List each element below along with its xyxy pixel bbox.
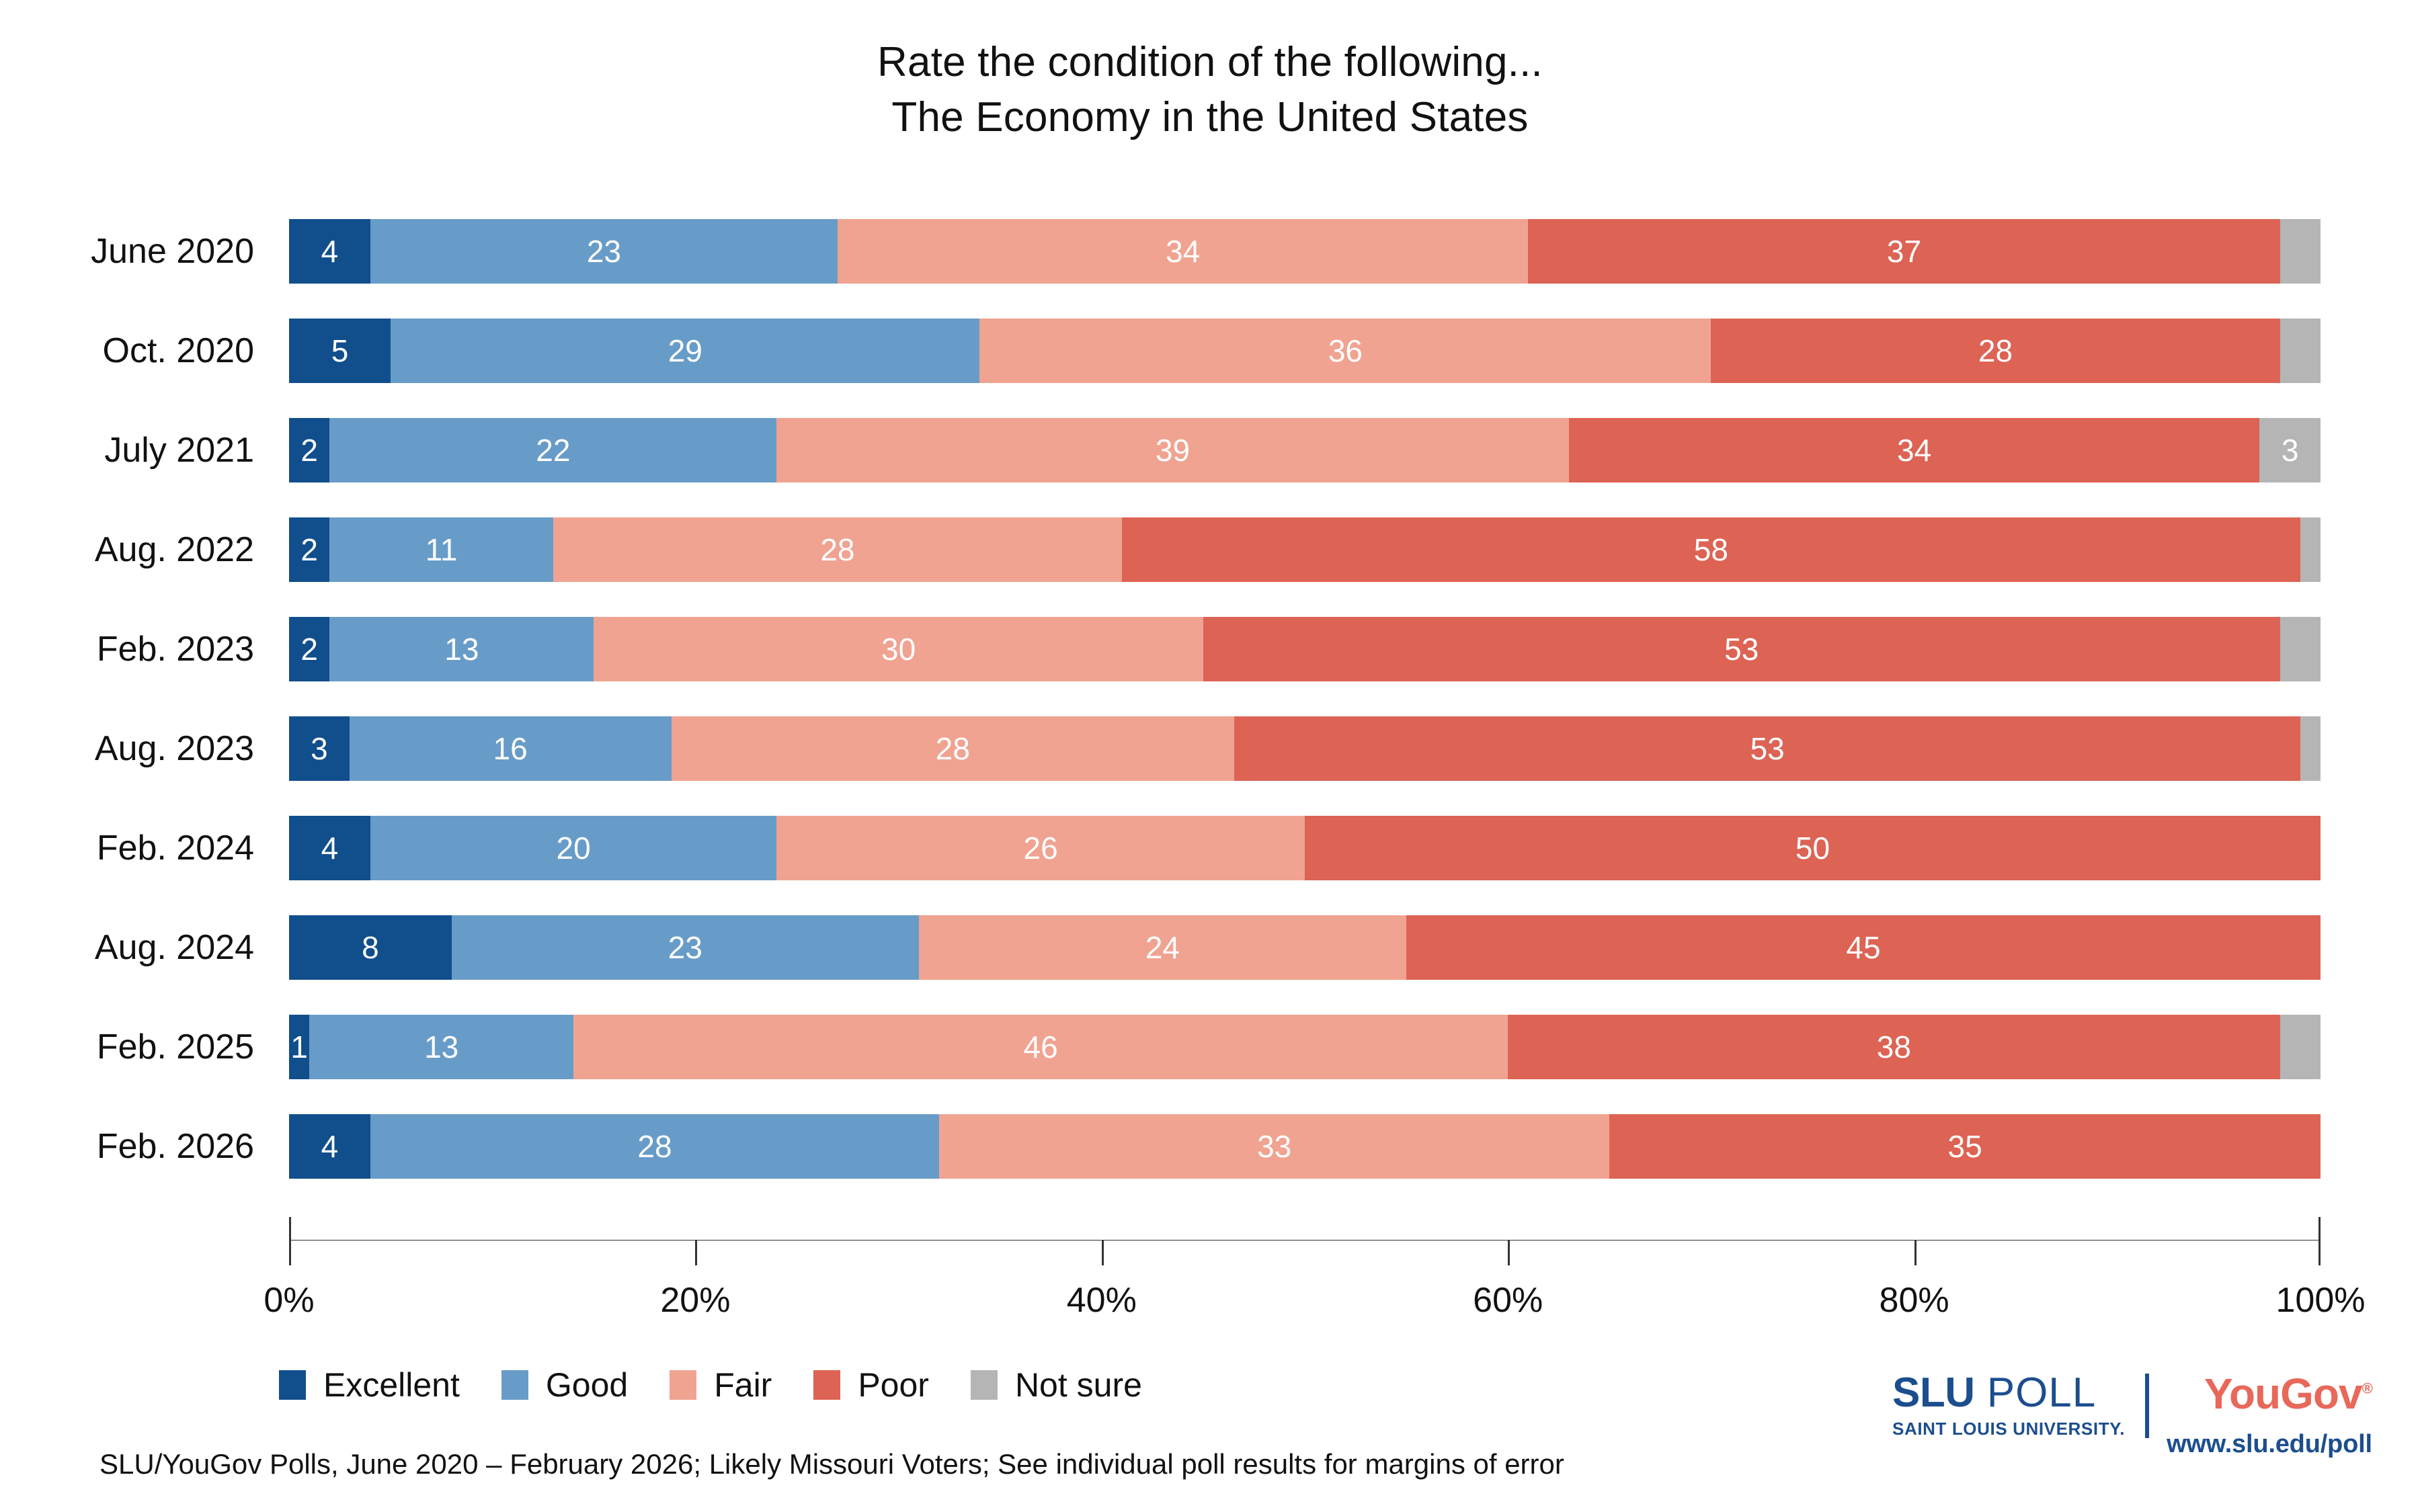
bar-segment-fair: 39 bbox=[776, 418, 1569, 482]
bar-value-label: 53 bbox=[1750, 733, 1785, 764]
yougov-wordmark: YouGov® bbox=[2204, 1372, 2372, 1415]
bar-value-label: 28 bbox=[936, 733, 970, 764]
category-label: Aug. 2024 bbox=[0, 927, 289, 968]
bar-value-label: 33 bbox=[1257, 1131, 1291, 1162]
bar-segment-poor: 53 bbox=[1203, 617, 2280, 681]
bar-segment-poor: 58 bbox=[1122, 517, 2300, 582]
bar-value-label: 37 bbox=[1887, 236, 1921, 267]
x-axis-tick bbox=[1508, 1240, 1510, 1265]
legend-label: Fair bbox=[714, 1366, 772, 1404]
bar-segment-poor: 38 bbox=[1508, 1015, 2280, 1079]
bar-value-label: 4 bbox=[321, 833, 339, 864]
bar-value-label: 29 bbox=[668, 335, 702, 366]
bar-value-label: 2 bbox=[300, 435, 318, 466]
slu-subtitle: SAINT LOUIS UNIVERSITY. bbox=[1892, 1419, 2125, 1439]
legend-label: Excellent bbox=[323, 1366, 460, 1404]
category-label: July 2021 bbox=[0, 430, 289, 470]
bar-value-label: 23 bbox=[587, 236, 621, 267]
bar-row: Feb. 202511346382 bbox=[0, 997, 2420, 1097]
x-axis-tick bbox=[695, 1240, 697, 1265]
bar-segment-poor: 53 bbox=[1234, 716, 2300, 781]
bar-value-label: 53 bbox=[1724, 634, 1759, 665]
category-label: Feb. 2026 bbox=[0, 1126, 289, 1167]
bar-value-label: 28 bbox=[637, 1131, 672, 1162]
bar-segment-excellent: 4 bbox=[289, 816, 370, 880]
logo-block: SLU POLL SAINT LOUIS UNIVERSITY. YouGov®… bbox=[1892, 1372, 2372, 1459]
bar-row: Feb. 20264283335 bbox=[0, 1097, 2420, 1196]
bar-value-label: 8 bbox=[362, 932, 379, 963]
stacked-bar: 22239343 bbox=[289, 418, 2321, 482]
stacked-bar: 4202650 bbox=[289, 816, 2321, 880]
x-axis-tick-label: 100% bbox=[2276, 1280, 2366, 1320]
bar-segment-excellent: 2 bbox=[289, 418, 329, 482]
category-label: Aug. 2022 bbox=[0, 530, 289, 570]
bar-segment-fair: 24 bbox=[919, 915, 1406, 980]
x-axis-labels: 0%20%40%60%80%100% bbox=[289, 1280, 2321, 1327]
x-axis-tick-label: 60% bbox=[1473, 1280, 1543, 1320]
bar-row: Aug. 20248232445 bbox=[0, 898, 2420, 997]
bar-value-label: 39 bbox=[1156, 435, 1190, 466]
bar-value-label: 13 bbox=[444, 634, 479, 665]
stacked-bar: 21330532 bbox=[289, 617, 2321, 681]
bar-segment-fair: 30 bbox=[594, 617, 1203, 681]
bar-segment-excellent: 2 bbox=[289, 517, 329, 582]
slu-poll-logo: SLU POLL SAINT LOUIS UNIVERSITY. bbox=[1892, 1372, 2125, 1439]
stacked-bar: 52936282 bbox=[289, 319, 2321, 383]
bar-value-label: 46 bbox=[1024, 1032, 1058, 1062]
bar-segment-fair: 33 bbox=[939, 1114, 1609, 1179]
x-axis-tick bbox=[289, 1240, 291, 1265]
bar-segment-fair: 34 bbox=[838, 219, 1528, 284]
bar-value-label: 38 bbox=[1877, 1032, 1911, 1062]
legend-item-good[interactable]: Good bbox=[501, 1366, 628, 1404]
legend-label: Poor bbox=[858, 1366, 929, 1404]
x-axis-tick-label: 80% bbox=[1880, 1280, 1949, 1320]
bar-segment-poor: 35 bbox=[1609, 1114, 2321, 1179]
bar-segment-excellent: 1 bbox=[289, 1015, 309, 1079]
bar-value-label: 34 bbox=[1897, 435, 1931, 466]
bar-value-label: 2 bbox=[300, 634, 318, 665]
bar-value-label: 26 bbox=[1024, 833, 1058, 864]
bar-row: July 202122239343 bbox=[0, 401, 2420, 500]
category-label: Oct. 2020 bbox=[0, 331, 289, 371]
bar-value-label: 3 bbox=[311, 733, 328, 764]
chart-title: Rate the condition of the following... bbox=[0, 35, 2420, 90]
bar-value-label: 4 bbox=[321, 236, 339, 267]
legend-swatch-icon bbox=[670, 1370, 696, 1400]
bar-segment-poor: 28 bbox=[1711, 319, 2280, 383]
x-axis-tick-label: 20% bbox=[660, 1280, 730, 1320]
bar-value-label: 36 bbox=[1328, 335, 1363, 366]
bar-segment-fair: 28 bbox=[672, 716, 1235, 781]
bar-segment-excellent: 2 bbox=[289, 617, 329, 681]
stacked-bar: 31628531 bbox=[289, 716, 2321, 781]
bar-value-label: 23 bbox=[668, 932, 702, 963]
slu-wordmark-light: POLL bbox=[1975, 1370, 2097, 1416]
bar-segment-fair: 36 bbox=[979, 319, 1711, 383]
poll-url[interactable]: www.slu.edu/poll bbox=[2167, 1430, 2372, 1459]
bar-value-label: 22 bbox=[536, 435, 570, 466]
bar-segment-not-sure: 2 bbox=[2280, 319, 2321, 383]
chart-plot-area: June 202042334372Oct. 202052936282July 2… bbox=[0, 202, 2420, 1223]
bar-segment-excellent: 4 bbox=[289, 1114, 370, 1179]
bar-segment-not-sure: 1 bbox=[2300, 517, 2321, 582]
bar-segment-fair: 46 bbox=[573, 1015, 1508, 1079]
stacked-bar: 4283335 bbox=[289, 1114, 2321, 1179]
bar-row: Feb. 202321330532 bbox=[0, 599, 2420, 699]
bar-segment-not-sure: 2 bbox=[2280, 219, 2321, 284]
bar-value-label: 35 bbox=[1948, 1131, 1982, 1162]
bar-row: Aug. 202331628531 bbox=[0, 699, 2420, 798]
bar-segment-excellent: 3 bbox=[289, 716, 350, 781]
bar-value-label: 34 bbox=[1166, 236, 1200, 267]
bar-value-label: 28 bbox=[820, 534, 854, 565]
yougov-logo: YouGov® www.slu.edu/poll bbox=[2167, 1372, 2372, 1459]
category-label: Aug. 2023 bbox=[0, 728, 289, 769]
bar-value-label: 24 bbox=[1145, 932, 1180, 963]
legend-item-not-sure[interactable]: Not sure bbox=[971, 1366, 1142, 1404]
bar-segment-good: 20 bbox=[370, 816, 776, 880]
x-axis-tick bbox=[2318, 1240, 2321, 1265]
source-note: SLU/YouGov Polls, June 2020 – February 2… bbox=[99, 1448, 1564, 1480]
bar-row: June 202042334372 bbox=[0, 202, 2420, 301]
chart-subtitle: The Economy in the United States bbox=[0, 90, 2420, 145]
bar-value-label: 16 bbox=[493, 733, 528, 764]
legend-item-excellent[interactable]: Excellent bbox=[279, 1366, 460, 1404]
bar-value-label: 30 bbox=[881, 634, 916, 665]
x-axis-cap-left bbox=[289, 1217, 291, 1240]
category-label: Feb. 2025 bbox=[0, 1027, 289, 1067]
stacked-bar: 42334372 bbox=[289, 219, 2321, 284]
legend-label: Good bbox=[546, 1366, 628, 1404]
slu-wordmark-bold: SLU bbox=[1892, 1370, 1975, 1416]
registered-mark-icon: ® bbox=[2362, 1380, 2372, 1397]
bar-segment-excellent: 4 bbox=[289, 219, 370, 284]
bar-value-label: 45 bbox=[1846, 932, 1880, 963]
slu-poll-wordmark: SLU POLL bbox=[1892, 1372, 2096, 1414]
bar-value-label: 3 bbox=[2282, 435, 2299, 466]
bar-value-label: 13 bbox=[424, 1032, 458, 1062]
chart-title-block: Rate the condition of the following... T… bbox=[0, 35, 2420, 146]
legend-swatch-icon bbox=[279, 1370, 306, 1400]
bar-value-label: 4 bbox=[321, 1131, 339, 1162]
x-axis-tick bbox=[1914, 1240, 1917, 1265]
bar-segment-fair: 28 bbox=[553, 517, 1122, 582]
stacked-bar: 11346382 bbox=[289, 1015, 2321, 1079]
legend-item-fair[interactable]: Fair bbox=[670, 1366, 772, 1404]
legend-swatch-icon bbox=[971, 1370, 998, 1400]
chart-legend: ExcellentGoodFairPoorNot sure bbox=[279, 1366, 1184, 1404]
bar-value-label: 11 bbox=[426, 534, 458, 565]
bar-segment-good: 23 bbox=[452, 915, 919, 980]
bar-segment-not-sure: 1 bbox=[2300, 716, 2321, 781]
bar-segment-good: 29 bbox=[391, 319, 979, 383]
bar-segment-good: 22 bbox=[329, 418, 776, 482]
x-axis-tick-label: 0% bbox=[264, 1280, 314, 1320]
legend-swatch-icon bbox=[501, 1370, 528, 1400]
legend-swatch-icon bbox=[813, 1370, 840, 1400]
bar-value-label: 2 bbox=[300, 534, 318, 565]
category-label: June 2020 bbox=[0, 231, 289, 271]
x-axis-tick bbox=[1102, 1240, 1104, 1265]
x-axis-cap-right bbox=[2318, 1217, 2321, 1240]
bar-row: Feb. 20244202650 bbox=[0, 798, 2420, 898]
bar-segment-poor: 45 bbox=[1406, 915, 2321, 980]
category-label: Feb. 2023 bbox=[0, 629, 289, 669]
bar-segment-good: 23 bbox=[370, 219, 838, 284]
legend-item-poor[interactable]: Poor bbox=[813, 1366, 929, 1404]
bar-segment-good: 28 bbox=[370, 1114, 939, 1179]
x-axis-ticks bbox=[289, 1240, 2321, 1267]
bar-value-label: 28 bbox=[1978, 335, 2013, 366]
category-label: Feb. 2024 bbox=[0, 828, 289, 868]
bar-segment-poor: 50 bbox=[1305, 816, 2321, 880]
bar-segment-fair: 26 bbox=[776, 816, 1305, 880]
bar-rows: June 202042334372Oct. 202052936282July 2… bbox=[0, 202, 2420, 1196]
x-axis-tick-label: 40% bbox=[1067, 1280, 1137, 1320]
bar-value-label: 5 bbox=[331, 335, 349, 366]
bar-segment-poor: 34 bbox=[1569, 418, 2259, 482]
bar-value-label: 58 bbox=[1694, 534, 1728, 565]
yougov-text: YouGov bbox=[2204, 1370, 2362, 1418]
bar-segment-excellent: 8 bbox=[289, 915, 452, 980]
bar-value-label: 20 bbox=[556, 833, 590, 864]
bar-value-label: 1 bbox=[290, 1032, 308, 1062]
logo-divider-icon bbox=[2145, 1374, 2149, 1438]
stacked-bar: 8232445 bbox=[289, 915, 2321, 980]
bar-segment-poor: 37 bbox=[1528, 219, 2280, 284]
bar-segment-not-sure: 2 bbox=[2280, 617, 2321, 681]
bar-segment-good: 13 bbox=[329, 617, 594, 681]
bar-segment-good: 13 bbox=[309, 1015, 573, 1079]
legend-label: Not sure bbox=[1015, 1366, 1142, 1404]
bar-value-label: 50 bbox=[1796, 833, 1830, 864]
bar-segment-good: 16 bbox=[350, 716, 672, 781]
bar-segment-not-sure: 3 bbox=[2259, 418, 2321, 482]
bar-segment-good: 11 bbox=[329, 517, 553, 582]
bar-row: Oct. 202052936282 bbox=[0, 301, 2420, 401]
bar-row: Aug. 202221128581 bbox=[0, 500, 2420, 599]
bar-segment-excellent: 5 bbox=[289, 319, 391, 383]
bar-segment-not-sure: 2 bbox=[2280, 1015, 2321, 1079]
stacked-bar: 21128581 bbox=[289, 517, 2321, 582]
